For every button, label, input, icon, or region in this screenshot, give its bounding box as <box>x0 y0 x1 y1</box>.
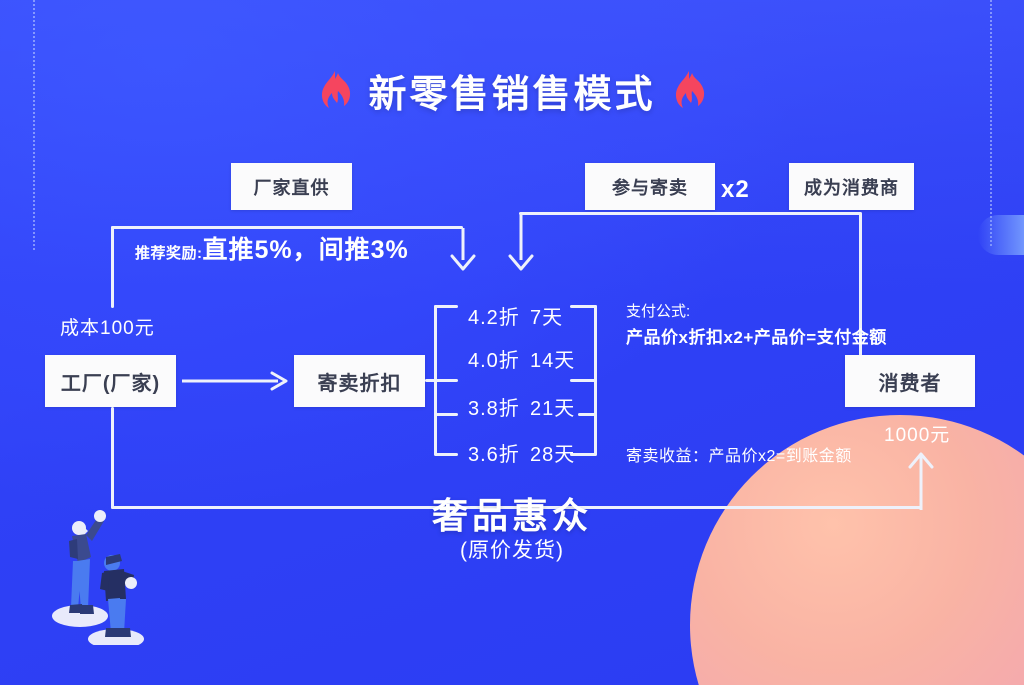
poster-title-row: 新零售销售模式 <box>0 63 1024 118</box>
discount-tier-row: 3.6折28天 <box>468 438 575 467</box>
decorative-dotted-line-right <box>990 0 992 246</box>
discount-bracket-left-tick-1 <box>434 305 458 308</box>
referral-reward-prefix: 推荐奖励: <box>135 245 203 262</box>
discount-bracket-left-tick-3 <box>434 413 458 416</box>
discount-tier-row: 3.8折21天 <box>468 392 575 421</box>
discount-bracket-left-tick-2 <box>425 379 458 382</box>
box-consumer-label: 消费者 <box>879 367 942 396</box>
discount-tier-days: 7天 <box>530 301 563 330</box>
box-consignment-discount-label: 寄卖折扣 <box>318 367 402 396</box>
connector-top-left-vertical <box>111 226 114 308</box>
discount-tier-rate: 4.2折 <box>468 301 530 330</box>
discount-tier-rate: 4.0折 <box>468 344 530 373</box>
box-join-consignment[interactable]: 参与寄卖 <box>585 163 715 210</box>
connector-top-right-horizontal <box>519 212 861 215</box>
box-become-distributor[interactable]: 成为消费商 <box>789 163 914 210</box>
decorative-dotted-line-left <box>33 0 35 250</box>
multiplier-label: x2 <box>721 176 750 204</box>
pay-formula-body: 产品价x折扣x2+产品价=支付金额 <box>626 323 887 348</box>
poster-canvas: 新零售销售模式 厂家直供 参与寄卖 x2 成为消费商 推荐奖励:直推5%，间推3… <box>0 0 1024 685</box>
discount-tier-days: 21天 <box>530 392 575 421</box>
discount-bracket-right-tick-2 <box>570 379 597 382</box>
referral-reward-row: 推荐奖励:直推5%，间推3% <box>135 230 409 266</box>
people-illustration <box>38 495 168 645</box>
discount-tier-rate: 3.6折 <box>468 438 530 467</box>
discount-tier-rate: 3.8折 <box>468 392 530 421</box>
discount-tier-days: 14天 <box>530 344 575 373</box>
arrow-right-factory-to-discount <box>182 370 290 392</box>
connector-top-left-horizontal <box>111 226 463 229</box>
page-title: 新零售销售模式 <box>368 63 655 118</box>
flame-icon <box>318 71 352 111</box>
box-join-consignment-label: 参与寄卖 <box>612 174 688 200</box>
box-consignment-discount[interactable]: 寄卖折扣 <box>294 355 425 407</box>
arrow-down-join-consignment <box>508 214 534 270</box>
consumer-price-label: 1000元 <box>884 420 950 447</box>
box-become-distributor-label: 成为消费商 <box>804 174 899 200</box>
discount-bracket-right-tick-1 <box>570 305 597 308</box>
box-factory-direct[interactable]: 厂家直供 <box>231 163 352 210</box>
box-factory-label: 工厂(厂家) <box>61 367 160 396</box>
arrow-down-factory-direct <box>450 228 476 270</box>
box-factory[interactable]: 工厂(厂家) <box>45 355 176 407</box>
box-consumer[interactable]: 消费者 <box>845 355 975 407</box>
consignment-income-formula: 寄卖收益：产品价x2=到账金额 <box>626 442 852 466</box>
decorative-edge-shape <box>978 215 1024 255</box>
referral-reward-value: 直推5%，间推3% <box>203 236 409 264</box>
flame-icon <box>672 71 706 111</box>
cost-label: 成本100元 <box>60 313 155 340</box>
discount-tier-days: 28天 <box>530 438 575 467</box>
discount-tier-row: 4.0折14天 <box>468 344 575 373</box>
box-factory-direct-label: 厂家直供 <box>254 174 330 200</box>
pay-formula-title: 支付公式: <box>626 302 690 322</box>
discount-bracket-right-tick-3 <box>578 413 597 416</box>
discount-tier-row: 4.2折7天 <box>468 301 563 330</box>
discount-bracket-left-tick-4 <box>434 453 458 456</box>
